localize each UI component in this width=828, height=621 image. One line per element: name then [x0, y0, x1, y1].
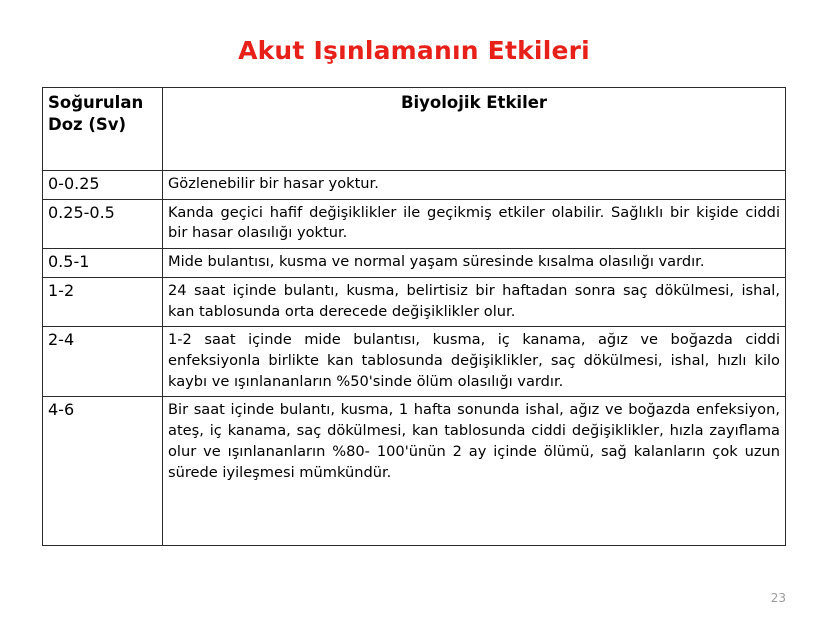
cell-effect: Gözlenebilir bir hasar yoktur.	[163, 171, 786, 200]
column-header-biological-effects: Biyolojik Etkiler	[163, 88, 786, 171]
radiation-effects-table: Soğurulan Doz (Sv) Biyolojik Etkiler 0-0…	[42, 87, 786, 546]
table-row: 4-6 Bir saat içinde bulantı, kusma, 1 ha…	[43, 397, 786, 546]
table-row: 0-0.25 Gözlenebilir bir hasar yoktur.	[43, 171, 786, 200]
cell-effect: Bir saat içinde bulantı, kusma, 1 hafta …	[163, 397, 786, 546]
table-row: 2-4 1-2 saat içinde mide bulantısı, kusm…	[43, 327, 786, 397]
slide-canvas: Akut Işınlamanın Etkileri Soğurulan Doz …	[0, 0, 828, 621]
cell-dose: 0.25-0.5	[43, 199, 163, 248]
cell-dose: 0.5-1	[43, 249, 163, 278]
table-row: 1-2 24 saat içinde bulantı, kusma, belir…	[43, 277, 786, 326]
cell-effect: Kanda geçici hafif değişiklikler ile geç…	[163, 199, 786, 248]
cell-dose: 4-6	[43, 397, 163, 546]
cell-dose: 0-0.25	[43, 171, 163, 200]
cell-dose: 2-4	[43, 327, 163, 397]
column-header-absorbed-dose: Soğurulan Doz (Sv)	[43, 88, 163, 171]
table-header-row: Soğurulan Doz (Sv) Biyolojik Etkiler	[43, 88, 786, 171]
table-body: 0-0.25 Gözlenebilir bir hasar yoktur. 0.…	[43, 171, 786, 546]
cell-effect: 1-2 saat içinde mide bulantısı, kusma, i…	[163, 327, 786, 397]
cell-effect: Mide bulantısı, kusma ve normal yaşam sü…	[163, 249, 786, 278]
cell-dose: 1-2	[43, 277, 163, 326]
table-header: Soğurulan Doz (Sv) Biyolojik Etkiler	[43, 88, 786, 171]
table-row: 0.5-1 Mide bulantısı, kusma ve normal ya…	[43, 249, 786, 278]
table-row: 0.25-0.5 Kanda geçici hafif değişiklikle…	[43, 199, 786, 248]
slide-page-number: 23	[771, 591, 786, 605]
page-title: Akut Işınlamanın Etkileri	[0, 36, 828, 65]
cell-effect: 24 saat içinde bulantı, kusma, belirtisi…	[163, 277, 786, 326]
